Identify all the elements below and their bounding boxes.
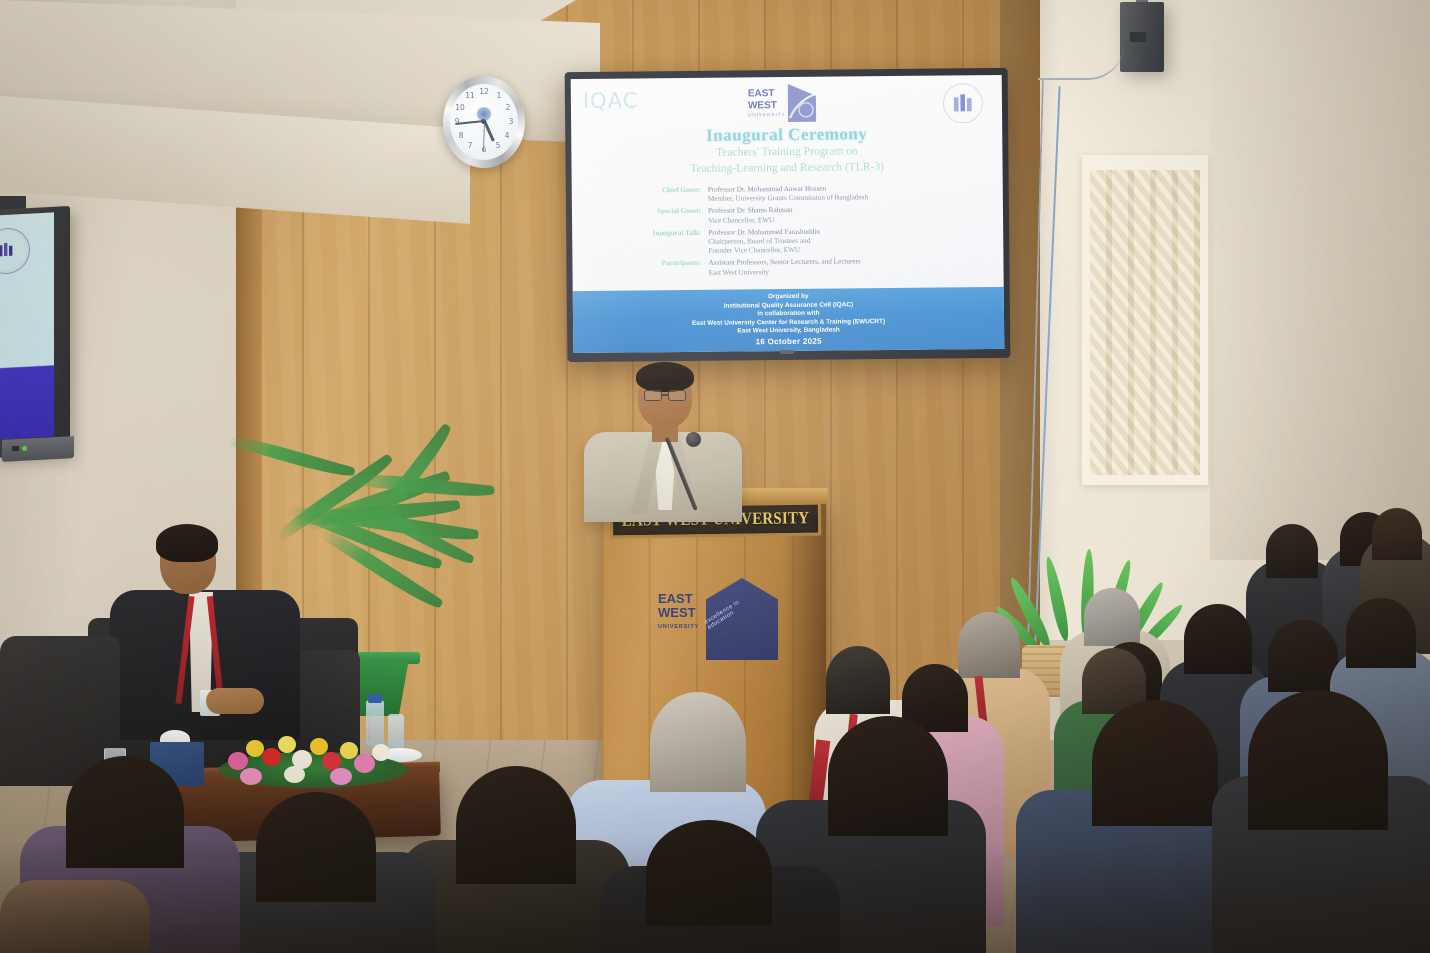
clock-numeral: 1 [494, 92, 504, 100]
audience-head [1268, 620, 1338, 692]
microphone-icon [686, 432, 701, 447]
audience-head [1372, 508, 1422, 560]
slide-row-label: Inaugural Talk: [622, 229, 708, 257]
audience-head [1266, 524, 1318, 578]
slide-detail-rows: Chief Guest: Professor Dr. Mohammad Anwa… [622, 183, 983, 281]
slide-row-label: Special Guest: [622, 207, 708, 226]
wall-clock-icon: 12 1 2 3 4 5 6 7 8 9 10 11 [443, 76, 525, 168]
slide-row-value: Professor Dr. Mohammed Farashuddin Chair… [708, 226, 982, 256]
clock-numeral: 11 [465, 92, 475, 100]
audience-head [256, 792, 376, 902]
clock-numeral: 4 [502, 132, 512, 140]
seated-guest-hair [156, 524, 218, 562]
clock-center-pin [481, 119, 486, 124]
plant-leaf [1042, 556, 1072, 643]
right-wall-shadow [1210, 0, 1430, 560]
clock-numeral: 5 [493, 142, 503, 150]
iqac-logo-text: IQAC [583, 88, 639, 113]
clock-numeral: 3 [506, 118, 516, 126]
flower-petal [372, 744, 390, 761]
slide-row: Participants: Assistant Professors, Seni… [622, 257, 982, 279]
flower-petal [228, 752, 248, 770]
slide-row: Chief Guest: Professor Dr. Mohammad Anwa… [622, 183, 982, 205]
audience-head [828, 716, 948, 836]
svg-text:UNIVERSITY: UNIVERSITY [748, 112, 786, 117]
audience-head [66, 756, 184, 868]
footer-date: 16 October 2025 [573, 336, 1004, 349]
clock-numeral: 7 [465, 142, 475, 150]
emblem-line-1: EAST [658, 592, 706, 606]
slide-row-line: East West University [709, 266, 983, 278]
audience-member [0, 880, 150, 953]
slide-row-line: Member, University Grants Commission of … [708, 192, 982, 204]
audience-head [646, 820, 772, 926]
eyeglasses-icon [644, 390, 662, 401]
slide-footer-band: Organized by Institutional Quality Assur… [573, 287, 1005, 353]
presentation-slide: IQAC EAST WEST UNIVERSITY Inaugural Cere… [571, 75, 1005, 353]
audience-head [826, 646, 890, 714]
flower-petal [354, 754, 375, 773]
bottle-cap [368, 694, 382, 703]
emblem-wordmark: EAST WEST UNIVERSITY [658, 592, 706, 654]
clock-numeral: 8 [456, 132, 466, 140]
speaker-hair [636, 362, 694, 392]
speaker-grille [1130, 32, 1146, 42]
slide-row-value: Assistant Professors, Senior Lecturers, … [708, 257, 982, 278]
clock-numeral: 2 [503, 104, 513, 112]
flower-petal [340, 742, 358, 759]
audience-head [1084, 588, 1140, 646]
clock-numeral: 12 [479, 88, 489, 96]
monitor-power-button[interactable] [12, 446, 19, 451]
blinds-light-sheen [1090, 170, 1200, 475]
audience-head [1184, 604, 1252, 674]
east-west-university-logo-icon: EAST WEST UNIVERSITY [736, 82, 836, 125]
audience-head [456, 766, 576, 884]
floral-arrangement [222, 730, 402, 792]
svg-text:EAST: EAST [748, 88, 775, 99]
seal-mark-icon [0, 239, 16, 260]
slide-row-value: Professor Dr. Shams Rahman Vice Chancell… [708, 205, 982, 226]
flower-petal [330, 768, 352, 785]
slide-subtitle-2: Teaching-Learning and Research (TLR-3) [572, 160, 1003, 176]
slide-row: Special Guest: Professor Dr. Shams Rahma… [622, 205, 982, 227]
eyeglasses-bridge [662, 394, 668, 396]
audience-head [1346, 598, 1416, 668]
flower-petal [310, 738, 328, 755]
audience-head [958, 612, 1020, 678]
clock-numeral: 10 [455, 104, 465, 112]
flower-petal [240, 768, 262, 785]
iqac-logo-icon: IQAC [583, 88, 653, 115]
slide-title: Inaugural Ceremony [571, 123, 1002, 147]
svg-text:WEST: WEST [748, 100, 777, 111]
flower-petal [284, 766, 305, 783]
slide-row-value: Professor Dr. Mohammad Anwar Hossen Memb… [708, 183, 982, 204]
slide-row-line: Vice Chancellor, EWU [708, 214, 982, 226]
ewucrt-logo-icon [943, 83, 983, 123]
audience-head [1092, 700, 1218, 826]
audience-head [1248, 690, 1388, 830]
conference-hall-photo: 12 1 2 3 4 5 6 7 8 9 10 11 [0, 0, 1430, 953]
slide-row: Inaugural Talk: Professor Dr. Mohammed F… [622, 226, 982, 257]
emblem-line-3: UNIVERSITY [658, 620, 706, 634]
flower-petal [262, 748, 281, 766]
slide-row-label: Chief Guest: [622, 186, 708, 205]
seated-guest-hands [206, 688, 264, 714]
tv-bottom-mark [780, 350, 794, 354]
slide-row-label: Participants: [622, 259, 708, 278]
audience-head [650, 692, 746, 792]
eyeglasses-icon [668, 390, 686, 401]
emblem-line-2: WEST [658, 606, 706, 620]
slide-row-line: Founder Vice Chancellor, EWU [708, 244, 982, 256]
flower-petal [278, 736, 296, 753]
